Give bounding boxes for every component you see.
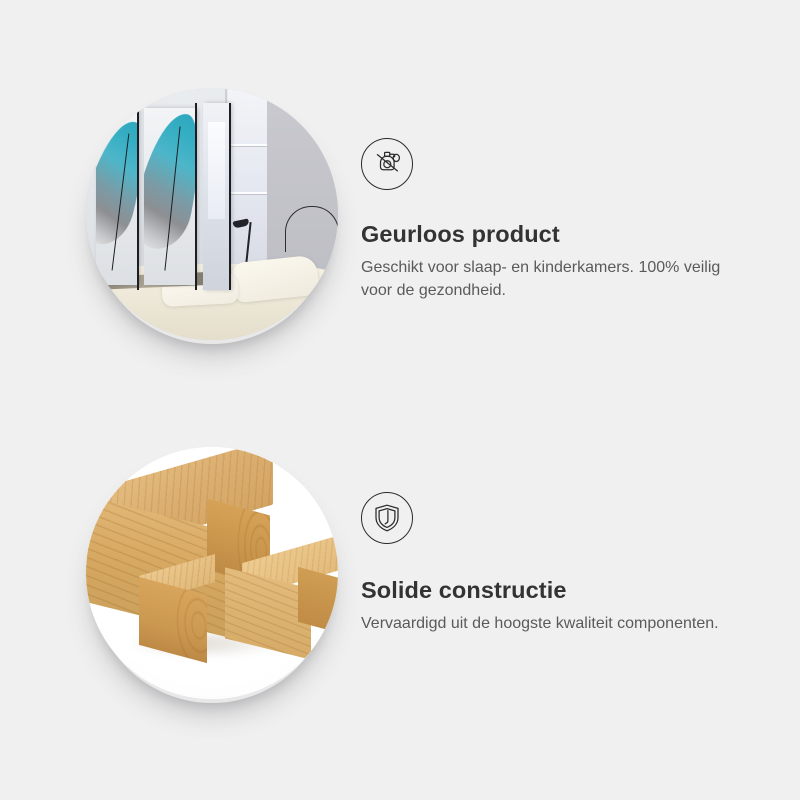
feature-block-solide-constructie: Solide constructie Vervaardigd uit de ho… [0, 420, 800, 740]
feather-graphic [144, 108, 196, 253]
circular-photo-frame [86, 88, 338, 340]
art-panel-2 [144, 108, 196, 284]
feature-block-geurloos-product: Geurloos product Geschikt voor slaap- en… [0, 60, 800, 380]
art-panel-3 [203, 103, 229, 289]
feature-photo-bedroom [86, 88, 338, 340]
shield-icon [361, 492, 413, 544]
feature-photo-wood [86, 447, 338, 699]
feature-description: Geschikt voor slaap- en kinderkamers. 10… [361, 256, 753, 302]
art-panel-1 [96, 108, 138, 284]
circular-photo-frame [86, 447, 338, 699]
panel-divider-3 [229, 103, 232, 289]
feature-description: Vervaardigd uit de hoogste kwaliteit com… [361, 612, 753, 635]
feature-title: Geurloos product [361, 220, 761, 248]
feature-title: Solide constructie [361, 576, 761, 604]
product-features-page: Geurloos product Geschikt voor slaap- en… [0, 0, 800, 800]
feature-text-column: Solide constructie Vervaardigd uit de ho… [361, 492, 761, 635]
no-fragrance-icon [361, 138, 413, 190]
panel-divider-2 [195, 103, 198, 289]
panel-divider-1 [137, 103, 140, 289]
feature-text-column: Geurloos product Geschikt voor slaap- en… [361, 138, 761, 303]
wire-headboard [285, 206, 338, 252]
bedroom-scene-illustration [86, 88, 338, 340]
wooden-blocks-illustration [86, 447, 338, 699]
panel-reflection [203, 103, 229, 289]
